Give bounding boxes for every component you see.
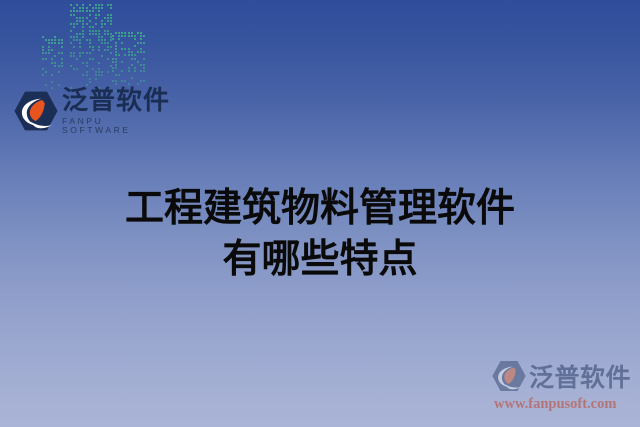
brand-text-block: 泛普软件 FANPU SOFTWARE [62, 88, 174, 134]
watermark: 泛普软件 www.fanpusoft.com [492, 357, 634, 419]
fanpu-hexagon-logo-icon [14, 89, 58, 133]
brand-name-cn: 泛普软件 [62, 88, 174, 114]
pixel-skyline-icon [36, 0, 146, 88]
watermark-fanpu-hexagon-logo-icon [492, 359, 526, 393]
page-title-line-2: 有哪些特点 [0, 234, 640, 285]
poster-canvas: 泛普软件 FANPU SOFTWARE 工程建筑物料管理软件 有哪些特点 泛普软… [0, 0, 640, 427]
watermark-url: www.fanpusoft.com [492, 396, 634, 413]
brand-logo: 泛普软件 FANPU SOFTWARE [14, 86, 174, 136]
watermark-logo-row: 泛普软件 [492, 357, 634, 395]
page-title: 工程建筑物料管理软件 有哪些特点 [0, 183, 640, 285]
brand-name-en: FANPU SOFTWARE [62, 117, 174, 134]
page-title-line-1: 工程建筑物料管理软件 [0, 183, 640, 234]
watermark-name-cn: 泛普软件 [529, 358, 631, 394]
